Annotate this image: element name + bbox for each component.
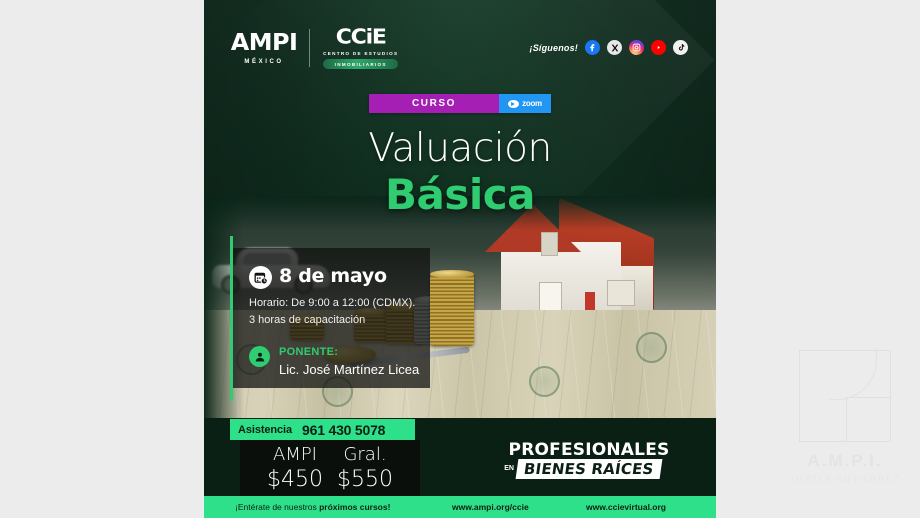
x-twitter-icon[interactable] <box>607 40 622 55</box>
tagline-line1: PROFESIONALES <box>500 440 678 460</box>
house-chimney <box>585 292 595 310</box>
banknote-seal <box>529 366 560 397</box>
footer-url-ampi[interactable]: www.ampi.org/ccie <box>452 502 529 512</box>
speaker-name: Lic. José Martínez Licea <box>279 362 419 377</box>
tagline-line2-row: EN BIENES RAÍCES <box>517 459 661 479</box>
course-title-line2: Básica <box>204 170 716 219</box>
course-date: 8 de mayo <box>279 265 387 287</box>
ampi-logo: AMPI MÉXICO <box>232 32 296 65</box>
tagline-connector: EN <box>504 465 514 472</box>
attendance-label: Asistencia <box>238 424 292 436</box>
follow-us-label: ¡Síguenos! <box>530 43 579 53</box>
logo-divider <box>309 29 310 67</box>
curso-badge: CURSO <box>369 94 499 113</box>
price-column-general: Gral. $550 <box>337 444 393 492</box>
price-value: $550 <box>337 467 393 492</box>
logo-group: AMPI MÉXICO CCiE CENTRO DE ESTUDIOS INMO… <box>232 27 398 69</box>
watermark-ampi-tuxtla: A.M.P.I. TUXTLA GUTIERREZ <box>780 350 910 484</box>
course-title-line1: Valuación <box>204 126 716 171</box>
footer-cta-prefix: ¡Entérate de nuestros <box>235 502 319 512</box>
watermark-logo-mark <box>799 350 891 442</box>
course-info-panel: 8 de mayo Horario: De 9:00 a 12:00 (CDMX… <box>233 248 430 388</box>
ccie-logo-word: CCiE <box>323 28 398 48</box>
youtube-icon[interactable] <box>651 40 666 55</box>
ccie-logo-line2: INMOBILIARIOS <box>323 59 398 69</box>
pricing-box: AMPI $450 Gral. $550 <box>240 440 420 496</box>
ccie-logo: CCiE CENTRO DE ESTUDIOS INMOBILIARIOS <box>323 27 398 69</box>
calendar-clock-icon <box>249 266 272 289</box>
watermark-city: TUXTLA GUTIERREZ <box>780 474 910 484</box>
course-schedule-line1: Horario: De 9:00 a 12:00 (CDMX). <box>249 297 415 309</box>
poster-header: AMPI MÉXICO CCiE CENTRO DE ESTUDIOS INMO… <box>204 0 716 82</box>
speaker-label: PONENTE: <box>279 346 338 358</box>
watermark-name: A.M.P.I. <box>780 451 910 471</box>
footer-url-ccie[interactable]: www.ccievirtual.org <box>586 502 666 512</box>
course-badge-row: CURSO zoom <box>369 94 551 113</box>
ampi-logo-word: AMPI <box>231 32 298 55</box>
brand-tagline: PROFESIONALES EN BIENES RAÍCES <box>500 440 678 479</box>
house-window-attic <box>541 232 558 256</box>
footer-cta: ¡Entérate de nuestros próximos cursos! <box>235 502 390 512</box>
price-column-ampi: AMPI $450 <box>267 444 323 492</box>
course-poster: AMPI MÉXICO CCiE CENTRO DE ESTUDIOS INMO… <box>204 0 716 518</box>
info-panel-accent-bar <box>230 236 233 401</box>
tiktok-icon[interactable] <box>673 40 688 55</box>
banknote-seal <box>636 332 667 363</box>
price-label: Gral. <box>337 444 393 465</box>
ampi-logo-sub: MÉXICO <box>232 59 296 65</box>
zoom-label: zoom <box>522 99 542 108</box>
page-canvas: A.M.P.I. TUXTLA GUTIERREZ <box>0 0 920 518</box>
poster-footer: ¡Entérate de nuestros próximos cursos! w… <box>204 496 716 518</box>
attendance-phone[interactable]: 961 430 5078 <box>302 422 385 438</box>
facebook-icon[interactable] <box>585 40 600 55</box>
price-label: AMPI <box>267 444 323 465</box>
ccie-logo-line1: CENTRO DE ESTUDIOS <box>323 51 398 56</box>
zoom-badge: zoom <box>499 94 551 113</box>
attendance-bar: Asistencia 961 430 5078 <box>230 419 415 440</box>
tagline-line2: BIENES RAÍCES <box>516 459 662 479</box>
coin-stack-tall <box>430 274 474 346</box>
course-schedule-line2: 3 horas de capacitación <box>249 314 365 326</box>
follow-us-group: ¡Síguenos! <box>530 40 689 55</box>
footer-cta-bold: próximos cursos! <box>319 502 390 512</box>
person-icon <box>249 346 270 367</box>
price-value: $450 <box>267 467 323 492</box>
poster-bottom-section: Asistencia 961 430 5078 AMPI $450 Gral. … <box>204 418 716 496</box>
video-camera-icon <box>508 100 519 108</box>
house-window-side <box>607 280 635 306</box>
instagram-icon[interactable] <box>629 40 644 55</box>
house-window-front <box>539 282 562 312</box>
